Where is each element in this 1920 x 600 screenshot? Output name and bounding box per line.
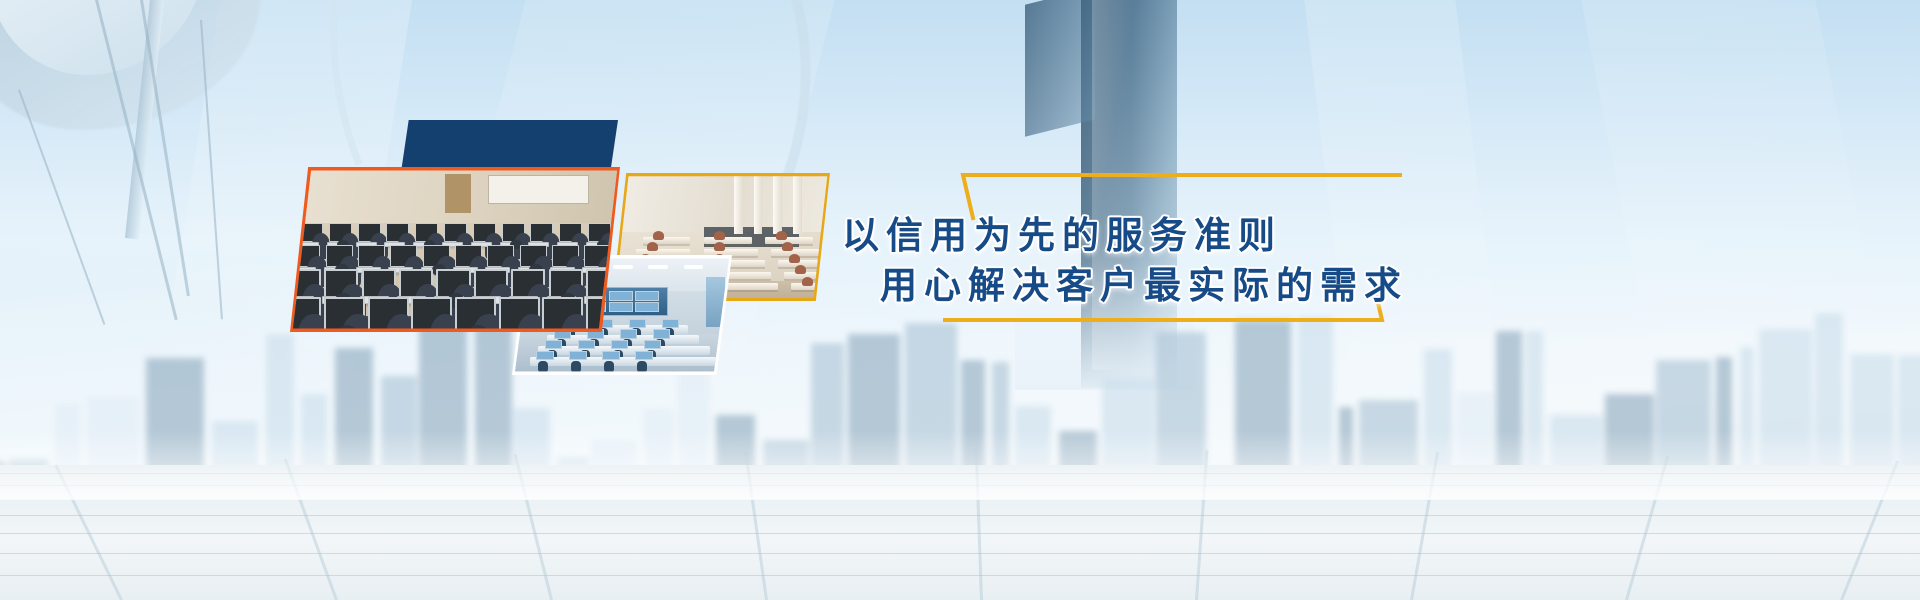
classroom-curtain: [734, 176, 743, 235]
classroom-desk: [704, 237, 752, 244]
classroom-chair: [714, 242, 725, 251]
operator-chair: [571, 361, 581, 373]
classroom-chair: [795, 265, 806, 274]
photo-computer-lab[interactable]: [290, 167, 620, 332]
classroom-chair: [776, 231, 787, 240]
ceiling-light: [684, 265, 704, 269]
operator-monitor: [569, 351, 586, 360]
video-wall-panel: [609, 302, 633, 312]
ceiling-light: [613, 265, 633, 269]
lab-keyboard: [366, 329, 401, 332]
classroom-chair: [714, 231, 725, 240]
classroom-chair: [653, 231, 664, 240]
ceiling-light: [648, 265, 668, 269]
lab-keyboard: [497, 329, 532, 332]
plaza-line: [0, 515, 1920, 516]
video-wall-panel: [635, 291, 659, 301]
lab-keyboard: [409, 329, 444, 332]
classroom-chair: [789, 254, 800, 263]
plaza-line: [0, 553, 1920, 554]
classroom-chair: [802, 277, 813, 286]
lab-keyboard: [290, 329, 313, 332]
operator-monitor: [545, 340, 562, 349]
lab-door: [445, 174, 471, 214]
operator-monitor: [644, 340, 661, 349]
plaza-haze: [0, 430, 1920, 500]
lab-keyboard: [540, 329, 575, 332]
operator-monitor: [629, 319, 646, 328]
plaza-line: [0, 533, 1920, 534]
lab-keyboard: [322, 329, 357, 332]
slogan-line-1: 以信用为先的服务准则: [842, 211, 1360, 261]
operator-monitor: [653, 329, 670, 338]
tower-flag: [1025, 0, 1095, 137]
operator-monitor: [635, 351, 652, 360]
slogan-block: 以信用为先的服务准则 用心解决客户最实际的需求: [820, 196, 1360, 326]
operator-monitor: [536, 351, 553, 360]
classroom-curtain: [793, 176, 802, 235]
classroom-desk: [704, 249, 759, 256]
lab-monitor: [584, 245, 611, 268]
operator-monitor: [611, 340, 628, 349]
operator-chair: [637, 361, 647, 373]
operator-monitor: [620, 329, 637, 338]
video-wall-panel: [635, 302, 659, 312]
operator-desk: [530, 357, 721, 366]
operator-monitor: [662, 319, 679, 328]
slogan-line-2: 用心解决客户最实际的需求: [880, 261, 1360, 311]
classroom-chair: [647, 242, 658, 251]
photo-collage: [280, 105, 860, 395]
operator-chair: [538, 361, 548, 373]
classroom-chair: [782, 242, 793, 251]
operator-chair: [604, 361, 614, 373]
classroom-curtain: [773, 176, 782, 235]
lab-whiteboard: [488, 175, 589, 203]
operator-monitor: [602, 351, 619, 360]
classroom-curtain: [754, 176, 763, 235]
control-room-panel: [706, 277, 726, 327]
photo-computer-lab-image: [290, 167, 620, 332]
hero-banner: 以信用为先的服务准则 用心解决客户最实际的需求: [0, 0, 1920, 600]
video-wall-panel: [609, 291, 633, 301]
lab-keyboard: [453, 329, 488, 332]
operator-monitor: [578, 340, 595, 349]
